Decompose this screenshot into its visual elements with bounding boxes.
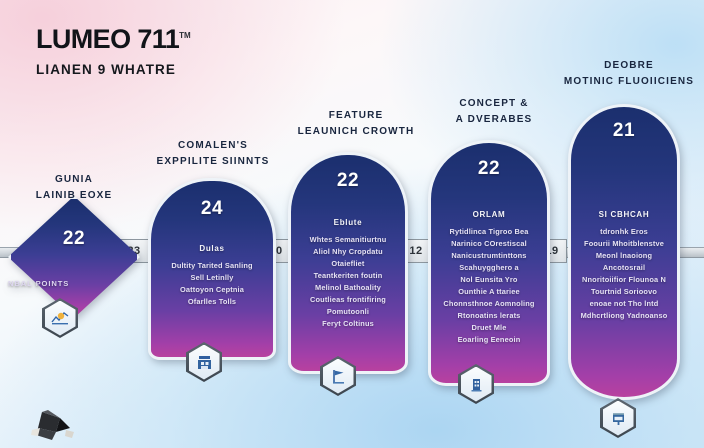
pillar-heading-1-line1: GUNIA [8, 172, 140, 188]
pillar-heading-4-line1: CONCEPT & [424, 96, 564, 112]
pillar-heading-2-line1: COMALEN'S [146, 138, 280, 154]
pillar-heading-4: CONCEPT & A DVERABES [424, 96, 564, 127]
pillar-1[interactable]: 22 NBAL POINTS [8, 196, 140, 318]
tower-badge-inner [461, 367, 492, 402]
pillar-heading-2-line2: EXPPILITE SIINNTS [146, 154, 280, 170]
pillar-1-caption: NBAL POINTS [8, 279, 140, 288]
flag-glyph-icon [329, 367, 348, 386]
flag-badge-inner [323, 359, 354, 394]
pillar-2[interactable]: 24 Dulas Dultity Tarited Sanling Sell Le… [148, 178, 276, 360]
pillar-heading-3-line1: FEATURE [286, 108, 426, 124]
pillar-5[interactable]: 21 SI CBHCAH tdronhk Eros Foourii Mhoitb… [568, 104, 680, 400]
3d-geometric-object [26, 408, 84, 446]
pillar-2-body [148, 178, 276, 360]
pillar-3[interactable]: 22 Eblute Whtes Semanitiurtnu Aliol Nhy … [288, 152, 408, 374]
chart-badge-inner [45, 301, 76, 336]
page-title: LUMEO 711TM [36, 26, 191, 53]
chart-glyph-icon [50, 309, 70, 327]
header-block: LUMEO 711TM LIANEN 9 WHATRE [36, 26, 191, 77]
pillar-4[interactable]: 22 ORLAM Rytidlinca Tigroo Bea Narinico … [428, 140, 550, 386]
pillar-5-body [568, 104, 680, 400]
page-subtitle: LIANEN 9 WHATRE [36, 62, 191, 77]
trademark-mark: TM [179, 31, 191, 40]
kiosk-glyph-icon [609, 409, 628, 428]
pillar-heading-1: GUNIA LAINIB EOXE [8, 172, 140, 203]
3d-object-glyph-icon [26, 408, 84, 446]
pillar-heading-2: COMALEN'S EXPPILITE SIINNTS [146, 138, 280, 169]
tower-glyph-icon [467, 375, 486, 394]
pillar-heading-4-line2: A DVERABES [424, 112, 564, 128]
building-badge-inner [189, 345, 220, 380]
pillar-heading-1-line2: LAINIB EOXE [8, 188, 140, 204]
pillar-heading-3: FEATURE LEAUNICH CROWTH [286, 108, 426, 139]
kiosk-badge-inner [603, 401, 634, 436]
pillar-1-body [8, 196, 140, 318]
infographic-canvas: LUMEO 711TM LIANEN 9 WHATRE 23 10 12 19 … [0, 0, 704, 448]
page-title-text: LUMEO 711 [36, 24, 179, 54]
pillar-4-body [428, 140, 550, 386]
pillar-heading-3-line2: LEAUNICH CROWTH [286, 124, 426, 140]
pillar-heading-5-line2: MOTINIC FLUOIICIENS [556, 74, 702, 90]
pillar-3-body [288, 152, 408, 374]
pillar-heading-5: DEOBRE MOTINIC FLUOIICIENS [556, 58, 702, 89]
kiosk-badge-icon[interactable] [600, 398, 636, 438]
pillar-heading-5-line1: DEOBRE [556, 58, 702, 74]
building-glyph-icon [195, 353, 214, 372]
